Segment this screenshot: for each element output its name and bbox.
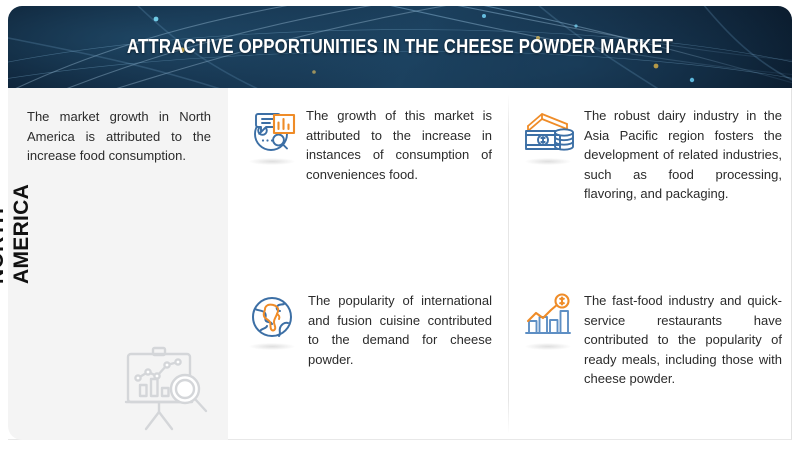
icon-shadow (249, 158, 295, 165)
region-description: The market growth in North America is at… (27, 107, 211, 166)
icon-shadow (525, 343, 571, 350)
data-analysis-icon (244, 106, 300, 158)
opportunity-cell-4: The fast-food industry and quick-service… (520, 291, 788, 389)
growth-bar-chart-dollar-icon (520, 291, 576, 343)
opportunity-cell-2: The robust dairy industry in the Asia Pa… (520, 106, 788, 204)
money-cash-coins-icon (520, 106, 576, 158)
page-title: ATTRACTIVE OPPORTUNITIES IN THE CHEESE P… (79, 6, 722, 88)
opportunity-text-2: The robust dairy industry in the Asia Pa… (584, 106, 782, 204)
region-panel: The market growth in North America is at… (8, 88, 228, 440)
icon-shadow (249, 343, 295, 350)
opportunity-cell-3: The popularity of international and fusi… (244, 291, 492, 369)
icon-shadow (525, 158, 571, 165)
infographic-poster: ATTRACTIVE OPPORTUNITIES IN THE CHEESE P… (0, 0, 800, 451)
region-label: NORTH AMERICA (0, 136, 34, 284)
opportunity-text-1: The growth of this market is attributed … (306, 106, 492, 184)
opportunity-cell-1: The growth of this market is attributed … (244, 106, 492, 184)
globe-world-icon (244, 291, 300, 343)
opportunity-text-3: The popularity of international and fusi… (308, 291, 492, 369)
presentation-analytics-icon (113, 341, 217, 437)
header-banner: ATTRACTIVE OPPORTUNITIES IN THE CHEESE P… (8, 6, 792, 88)
column-divider (508, 94, 509, 434)
content-board: The market growth in North America is at… (8, 88, 792, 440)
opportunity-text-4: The fast-food industry and quick-service… (584, 291, 782, 389)
